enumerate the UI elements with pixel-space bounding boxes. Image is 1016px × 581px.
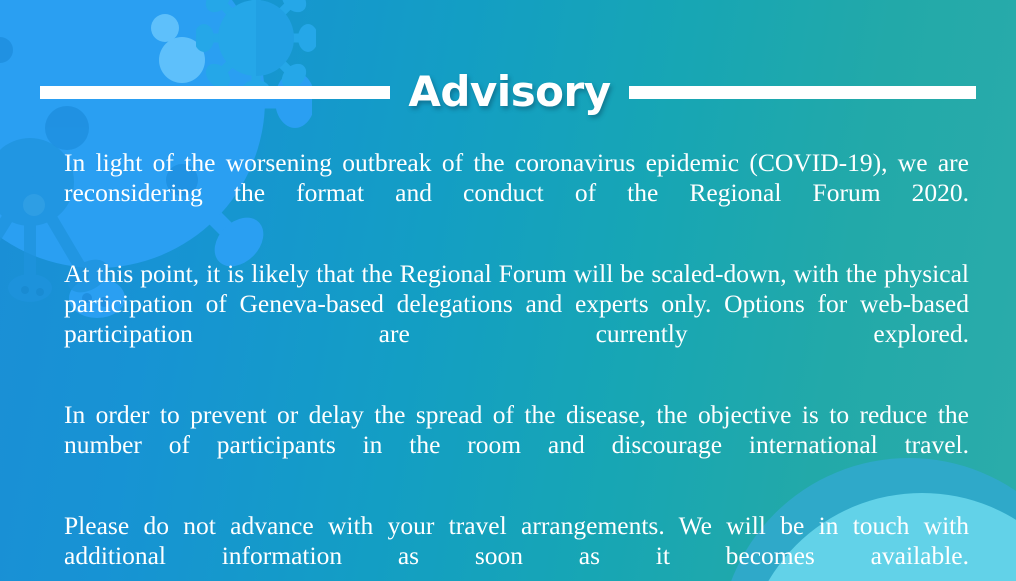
title-rule-right <box>629 86 976 99</box>
advisory-slide: Advisory In light of the worsening outbr… <box>0 0 1016 581</box>
title-rule-left <box>40 86 390 99</box>
advisory-paragraph-2: At this point, it is likely that the Reg… <box>64 259 969 379</box>
slide-header: Advisory <box>0 63 1016 121</box>
advisory-body: In light of the worsening outbreak of th… <box>64 148 969 581</box>
advisory-paragraph-3: In order to prevent or delay the spread … <box>64 400 969 490</box>
page-title: Advisory <box>408 71 610 113</box>
advisory-paragraph-4: Please do not advance with your travel a… <box>64 511 969 581</box>
advisory-paragraph-1: In light of the worsening outbreak of th… <box>64 148 969 238</box>
